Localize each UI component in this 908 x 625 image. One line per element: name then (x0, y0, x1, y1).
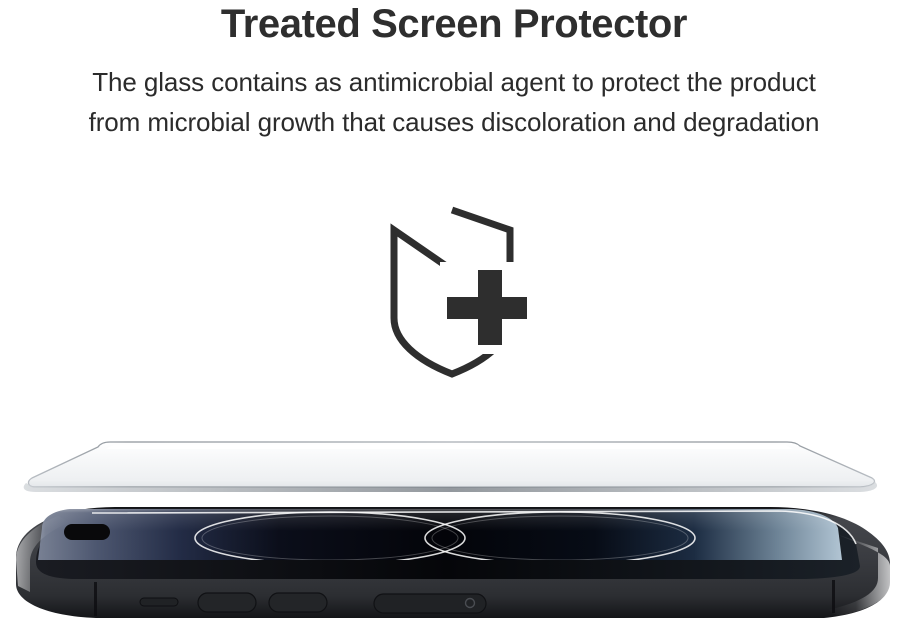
description-line-2: from microbial growth that causes discol… (0, 102, 908, 142)
description-line-1: The glass contains as antimicrobial agen… (0, 62, 908, 102)
page-title: Treated Screen Protector (0, 2, 908, 46)
tempered-glass-screen-protector (0, 430, 908, 510)
product-feature-image: Treated Screen Protector The glass conta… (0, 0, 908, 625)
product-description: The glass contains as antimicrobial agen… (0, 62, 908, 142)
plus-horizontal-bar (447, 297, 527, 319)
speaker-slot-icon (140, 598, 178, 606)
speaker-hole-right-icon (269, 593, 327, 612)
lightning-port-icon (374, 594, 486, 613)
iphone-14-pro (0, 500, 908, 625)
antenna-seam-right (832, 580, 835, 613)
glass-top-highlight (106, 445, 793, 449)
antimicrobial-shield-plus-icon (380, 200, 540, 385)
antenna-seam-left (94, 582, 97, 616)
dynamic-island (64, 524, 110, 540)
speaker-hole-left-icon (198, 593, 256, 612)
